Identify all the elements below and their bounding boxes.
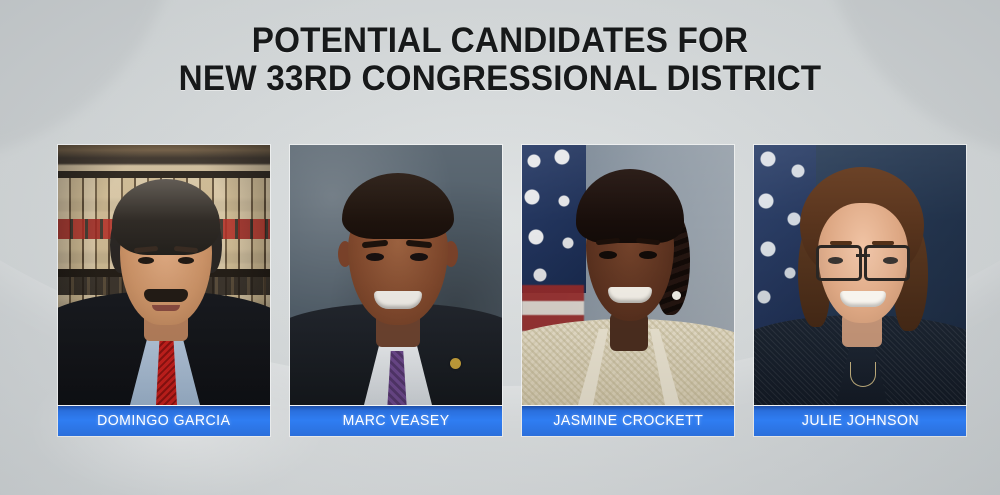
candidate-photo-domingo-garcia xyxy=(58,145,270,405)
eye-right xyxy=(178,257,194,264)
eye-right xyxy=(410,253,428,261)
candidate-photo-julie-johnson xyxy=(754,145,966,405)
candidate-list: DOMINGO GARCIA xyxy=(58,145,966,436)
eye-left xyxy=(366,253,384,261)
eye-left xyxy=(599,251,617,259)
candidate-photo-jasmine-crockett xyxy=(522,145,734,405)
candidate-name-label: JASMINE CROCKETT xyxy=(553,413,703,429)
earring-icon xyxy=(672,291,681,300)
candidate-name-banner: MARC VEASEY xyxy=(290,406,502,436)
candidate-name-banner: DOMINGO GARCIA xyxy=(58,406,270,436)
mouth-shape xyxy=(152,305,180,311)
smile-shape xyxy=(840,291,886,307)
eye-right xyxy=(639,251,657,259)
candidate-card-jasmine-crockett[interactable]: JASMINE CROCKETT xyxy=(522,145,734,436)
lens-right xyxy=(864,245,910,281)
lapel-pin-icon xyxy=(450,358,461,369)
smile-shape xyxy=(374,291,422,309)
candidate-card-julie-johnson[interactable]: JULIE JOHNSON xyxy=(754,145,966,436)
eye-left xyxy=(138,257,154,264)
title-line-2: NEW 33RD CONGRESSIONAL DISTRICT xyxy=(25,60,975,98)
title-line-1: POTENTIAL CANDIDATES FOR xyxy=(25,22,975,60)
candidate-card-domingo-garcia[interactable]: DOMINGO GARCIA xyxy=(58,145,270,436)
eyeglasses-icon xyxy=(816,245,910,275)
smile-shape xyxy=(608,287,652,303)
necklace-icon xyxy=(850,362,876,387)
broadcast-graphic: POTENTIAL CANDIDATES FOR NEW 33RD CONGRE… xyxy=(0,0,1000,495)
candidate-name-label: DOMINGO GARCIA xyxy=(97,413,230,429)
page-title: POTENTIAL CANDIDATES FOR NEW 33RD CONGRE… xyxy=(0,22,1000,98)
candidate-name-label: JULIE JOHNSON xyxy=(801,413,918,429)
candidate-card-marc-veasey[interactable]: MARC VEASEY xyxy=(290,145,502,436)
candidate-photo-marc-veasey xyxy=(290,145,502,405)
candidate-name-banner: JASMINE CROCKETT xyxy=(522,406,734,436)
moustache-shape xyxy=(144,289,188,302)
candidate-name-banner: JULIE JOHNSON xyxy=(754,406,966,436)
lens-left xyxy=(816,245,862,281)
candidate-name-label: MARC VEASEY xyxy=(343,413,450,429)
